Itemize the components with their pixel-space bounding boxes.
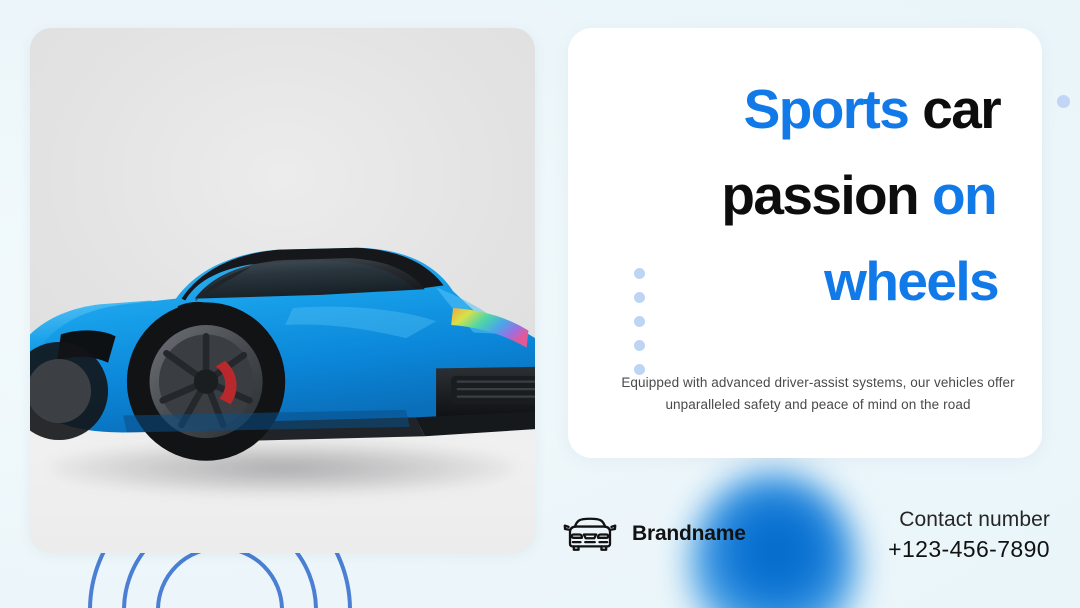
headline-word-sports: Sports [744,78,909,140]
contact-number[interactable]: +123-456-7890 [888,534,1050,565]
contact-label: Contact number [888,505,1050,534]
sports-car-illustration [30,149,535,506]
headline-word-car: car [922,78,1000,140]
dot-column-decoration [634,268,645,375]
page-title: Sportscar passionon wheels [586,66,1024,324]
decorative-dot [634,340,645,351]
headline-word-on: on [932,164,996,226]
brand-name: Brandname [632,522,746,546]
poster-canvas: Sportscar passionon wheels Equipped with… [0,0,1080,608]
decorative-dot [634,292,645,303]
decorative-dot [634,268,645,279]
car-front-icon [562,514,618,554]
headline-word-passion: passion [721,164,918,226]
edge-decorative-dot [1057,95,1070,108]
front-wheel [127,302,285,460]
decorative-dot [634,316,645,327]
content-card: Sportscar passionon wheels Equipped with… [568,28,1042,458]
body-paragraph: Equipped with advanced driver-assist sys… [614,372,1022,416]
hero-car-photo [30,28,535,553]
headline-word-wheels: wheels [824,250,998,312]
contact-block: Contact number +123-456-7890 [888,505,1050,565]
brand-lockup: Brandname [562,514,746,554]
